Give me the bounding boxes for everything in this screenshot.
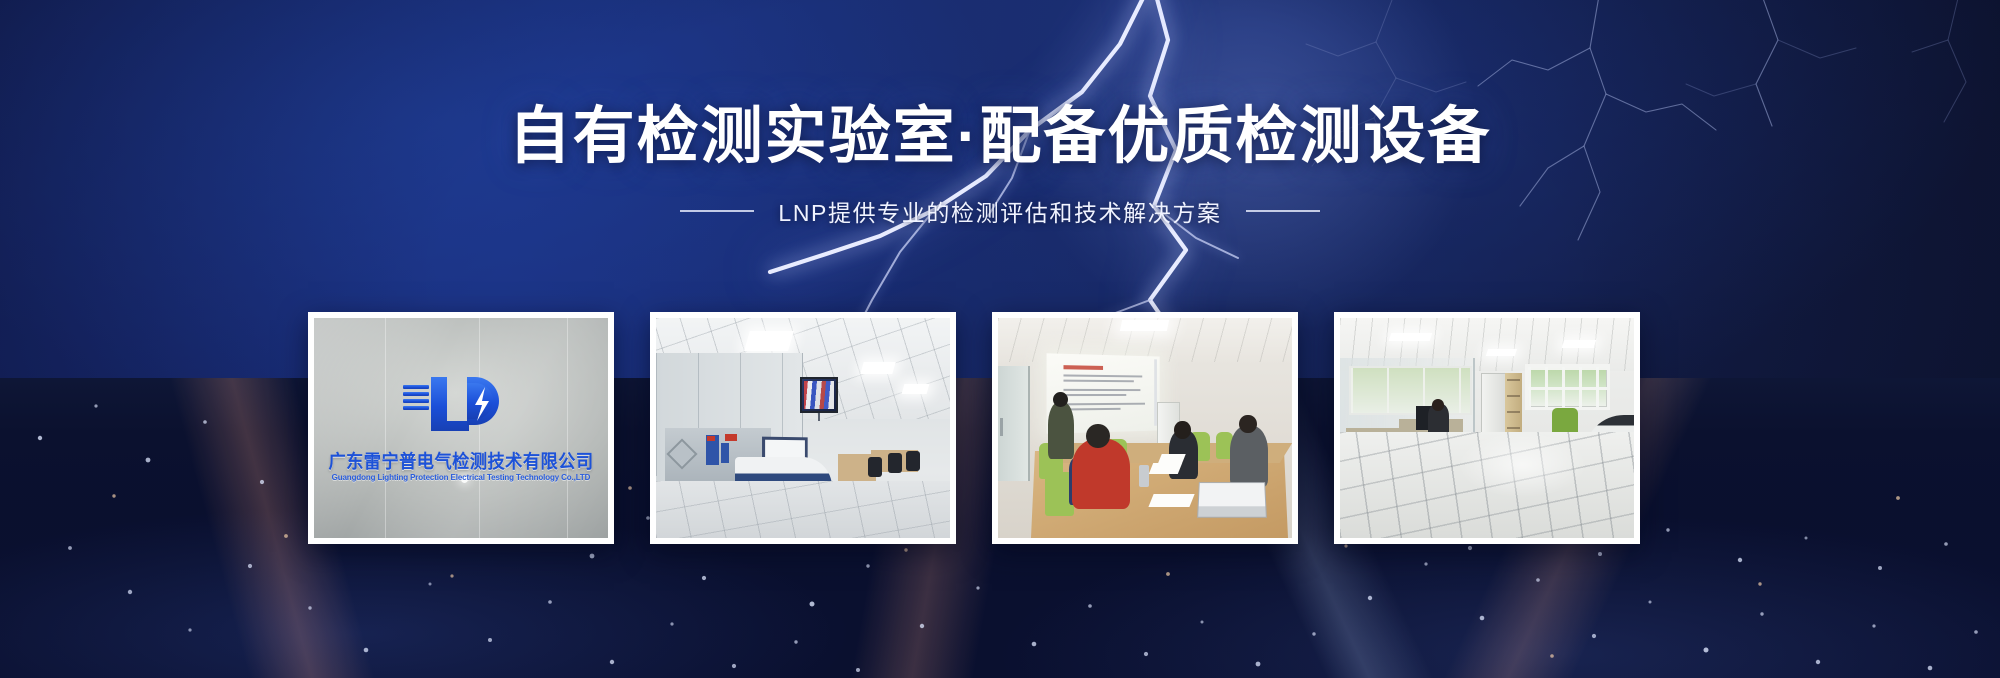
office-chair <box>906 451 920 471</box>
rule-right-icon <box>1246 210 1320 212</box>
document-paper <box>1149 463 1183 474</box>
page-subtitle: LNP提供专业的检测评估和技术解决方案 <box>778 194 1221 228</box>
office-window <box>1525 364 1610 410</box>
attendee-head <box>1086 424 1110 448</box>
office-chair <box>868 457 882 477</box>
bookshelf <box>1505 373 1523 437</box>
document-paper <box>1148 494 1194 507</box>
office-window <box>1349 366 1472 414</box>
document-paper <box>1158 454 1185 463</box>
rule-left-icon <box>680 210 754 212</box>
monitor-screen <box>804 381 834 408</box>
attendee-person <box>1230 426 1268 488</box>
slide-text-line <box>1064 403 1145 406</box>
page-title: 自有检测实验室·配备优质检测设备 <box>0 106 2000 168</box>
ceiling-light <box>1562 340 1597 348</box>
hero-banner: 自有检测实验室·配备优质检测设备 LNP提供专业的检测评估和技术解决方案 <box>0 0 2000 678</box>
hero-text-block: 自有检测实验室·配备优质检测设备 LNP提供专业的检测评估和技术解决方案 <box>0 106 2000 228</box>
office-space-photo <box>1340 318 1634 538</box>
ceiling-light <box>744 331 794 351</box>
ceiling-light <box>1120 320 1169 331</box>
wall-monitor <box>800 377 838 412</box>
equipment-indicator <box>707 436 714 442</box>
monitor-mount <box>818 413 820 422</box>
laptop-computer <box>1197 482 1266 518</box>
thermos-cup <box>1139 465 1149 487</box>
gallery-card-company-signage[interactable]: 广东雷宁普电气检测技术有限公司 Guangdong Lighting Prote… <box>308 312 614 544</box>
slide-text-line <box>1064 408 1121 411</box>
office-chair <box>888 453 902 473</box>
attendee-head <box>1174 421 1190 439</box>
slide-text-line <box>1064 395 1127 397</box>
ceiling-light <box>902 384 930 394</box>
equipment-module <box>721 443 730 463</box>
meeting-room-photo <box>998 318 1292 538</box>
slide-text-line <box>1064 380 1134 383</box>
gallery-card-testing-laboratory[interactable] <box>650 312 956 544</box>
signage-company-name-en: Guangdong Lighting Protection Electrical… <box>318 473 603 482</box>
storage-cabinet <box>1481 373 1507 439</box>
attendee-head <box>1239 415 1257 434</box>
ceiling-light <box>1486 349 1518 356</box>
attendee-person-red-jacket <box>1072 439 1131 509</box>
glass-door <box>998 366 1030 480</box>
presenter-person <box>1048 402 1074 459</box>
presenter-head <box>1053 392 1068 407</box>
ceiling-light <box>1389 333 1433 341</box>
company-signage-photo: 广东雷宁普电气检测技术有限公司 Guangdong Lighting Prote… <box>314 318 608 538</box>
equipment-indicator <box>725 434 737 442</box>
sunlight-patch <box>1458 432 1587 498</box>
photo-gallery: 广东雷宁普电气检测技术有限公司 Guangdong Lighting Prote… <box>308 312 1640 544</box>
gallery-card-office-space[interactable] <box>1334 312 1640 544</box>
slide-title-bar <box>1064 365 1104 370</box>
door-handle <box>1000 418 1003 436</box>
testing-laboratory-photo <box>656 318 950 538</box>
gallery-card-meeting-room[interactable] <box>992 312 1298 544</box>
signage-company-name-zh: 广东雷宁普电气检测技术有限公司 <box>324 448 597 474</box>
slide-text-line <box>1064 389 1141 391</box>
slide-text-line <box>1064 375 1143 378</box>
ceiling-light <box>860 362 896 374</box>
tiled-floor <box>656 481 950 538</box>
lnp-monogram-icon <box>401 373 521 435</box>
subtitle-row: LNP提供专业的检测评估和技术解决方案 <box>0 194 2000 228</box>
